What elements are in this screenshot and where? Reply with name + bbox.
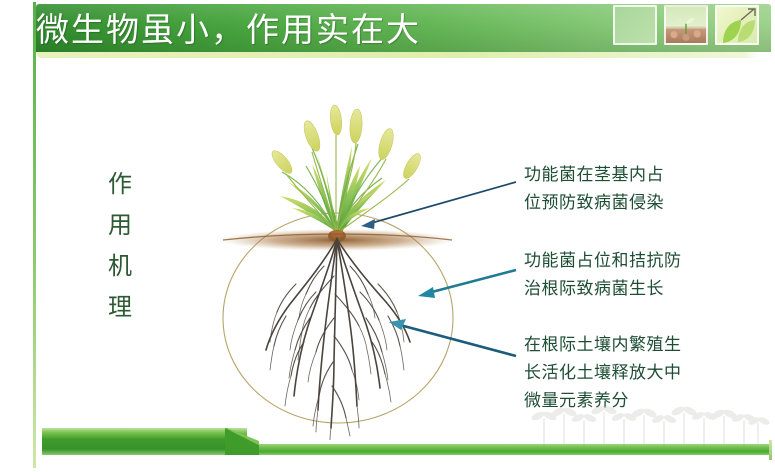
label-char-3: 机 — [100, 246, 140, 287]
footer-right-cap — [769, 440, 772, 460]
callout-text-1: 功能菌在茎基内占 位预防致病菌侵染 — [524, 161, 746, 217]
header-thumbnail-strip — [613, 5, 759, 45]
page-title: 微生物虽小，作用实在大 — [36, 5, 421, 49]
leaf-glyph — [717, 7, 759, 45]
label-char-1: 作 — [100, 164, 140, 205]
root-system — [266, 238, 410, 440]
footer-thin-bar — [225, 444, 770, 455]
plant-illustration — [190, 70, 530, 440]
label-char-4: 理 — [100, 287, 140, 328]
footer-thick-bar — [42, 428, 247, 455]
blank-swatch-icon — [613, 5, 657, 45]
plant-root-diagram — [190, 70, 530, 440]
footer-seedlings-watermark — [530, 398, 770, 444]
section-label-vertical: 作 用 机 理 — [100, 164, 140, 328]
sprout-glyph — [673, 15, 699, 35]
left-accent-rule — [33, 2, 36, 468]
seed-heads — [269, 105, 424, 181]
header-underline — [36, 52, 748, 58]
seedling-photo-icon — [664, 5, 708, 45]
slide-canvas: 微生物虽小，作用实在大 作 用 机 理 — [0, 0, 775, 472]
leaves-photo-icon — [715, 5, 759, 45]
label-char-2: 用 — [100, 205, 140, 246]
callout-text-2: 功能菌占位和拮抗防 治根际致病菌生长 — [524, 247, 746, 303]
footer-bevel-joint — [225, 428, 259, 455]
